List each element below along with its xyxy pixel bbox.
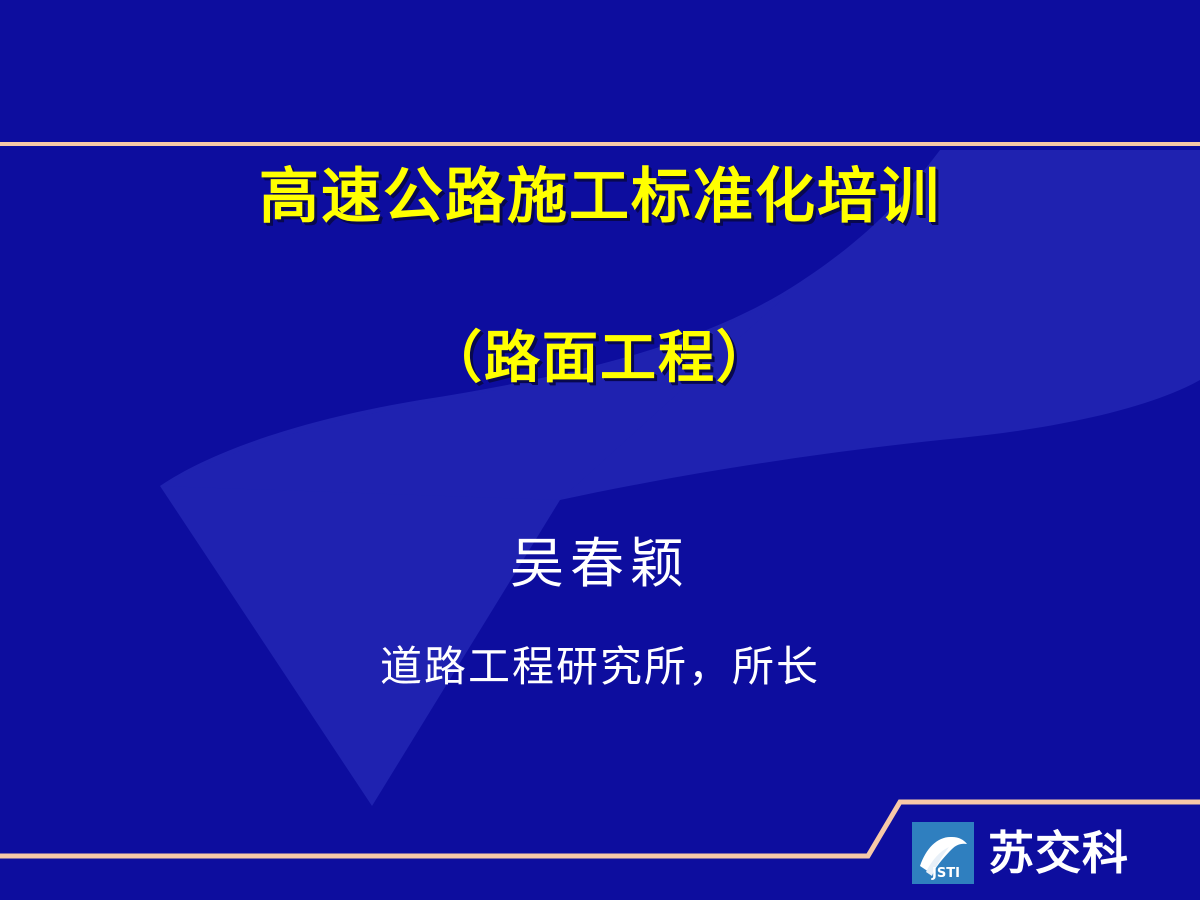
svg-text:JSTI: JSTI [931, 866, 960, 881]
logo: JSTI 苏交科 [912, 822, 1129, 884]
author-role: 道路工程研究所，所长 [0, 593, 1200, 694]
page-subtitle: （路面工程） [0, 235, 1200, 394]
page-title: 高速公路施工标准化培训 [0, 160, 1200, 235]
title-block: 高速公路施工标准化培训 （路面工程） [0, 160, 1200, 394]
presentation-slide: 高速公路施工标准化培训 （路面工程） 吴春颖 道路工程研究所，所长 JSTI 苏… [0, 0, 1200, 900]
logo-wordmark: 苏交科 [988, 830, 1129, 876]
author-block: 吴春颖 道路工程研究所，所长 [0, 534, 1200, 694]
background-wing-shape [0, 0, 1200, 900]
author-name: 吴春颖 [0, 534, 1200, 593]
top-accent-rule [0, 142, 1200, 146]
jsti-logo-icon: JSTI [912, 822, 974, 884]
